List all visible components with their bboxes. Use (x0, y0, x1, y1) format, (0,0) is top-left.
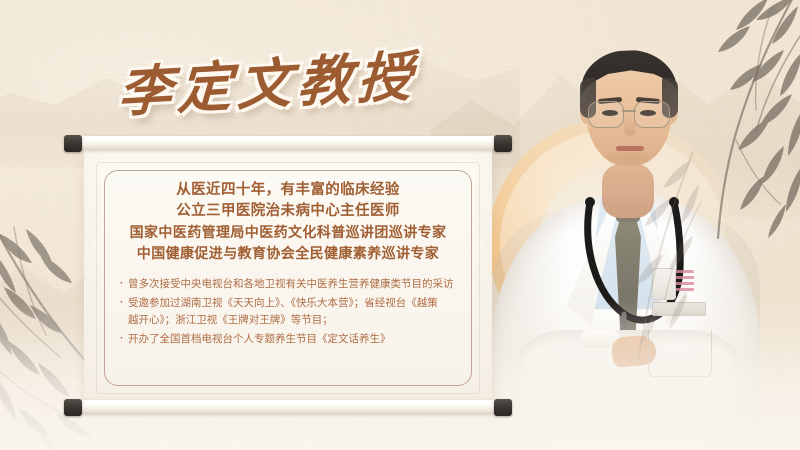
headline-line: 国家中医药管理局中医药文化科普巡讲团巡讲专家 (114, 222, 462, 243)
bullet-marker: · (120, 294, 124, 312)
lens-left (588, 101, 624, 128)
hanging-scroll: 从医近四十年，有丰富的临床经验 公立三甲医院治未病中心主任医师 国家中医药管理局… (76, 136, 500, 414)
glasses-bridge (622, 110, 636, 112)
bullet-text: 受邀参加过湖南卫视《天天向上》、《快乐大本营》；省经视台《越策 (128, 297, 438, 309)
scroll-rod-cap-icon (494, 135, 512, 152)
headline-line: 公立三甲医院治未病中心主任医师 (114, 201, 462, 222)
scroll-content: 从医近四十年，有丰富的临床经验 公立三甲医院治未病中心主任医师 国家中医药管理局… (114, 178, 462, 380)
headline-line: 从医近四十年，有丰富的临床经验 (114, 180, 462, 201)
profile-card: 李定文教授 从医近四十年，有丰富的临床经验 公立三甲医院治未病中心主任医师 国家… (0, 0, 800, 450)
headline-line: 中国健康促进与教育协会全民健康素养巡讲专家 (114, 243, 462, 264)
headline-block: 从医近四十年，有丰富的临床经验 公立三甲医院治未病中心主任医师 国家中医药管理局… (114, 180, 462, 264)
scroll-rod-cap-icon (64, 399, 82, 416)
lens-right (634, 101, 670, 128)
list-item: · 受邀参加过湖南卫视《天天向上》、《快乐大本营》；省经视台《越策 越开心》；浙… (120, 295, 462, 330)
bullet-marker: · (120, 330, 124, 348)
scroll-rod-icon (78, 136, 498, 150)
nose (624, 116, 636, 136)
scroll-rod-cap-icon (64, 135, 82, 152)
bullet-text: 曾多次接受中央电视台和各地卫视有关中医养生营养健康类节目的采访 (128, 278, 454, 290)
scroll-rod-icon (78, 400, 498, 414)
id-badge (652, 268, 676, 300)
bullet-text-continuation: 越开心》；浙江卫视《王牌对王牌》等节目； (128, 312, 462, 330)
list-item: · 曾多次接受中央电视台和各地卫视有关中医养生营养健康类节目的采访 (120, 276, 462, 294)
badge-text-lines (676, 270, 694, 292)
scroll-sheet: 从医近四十年，有丰富的临床经验 公立三甲医院治未病中心主任医师 国家中医药管理局… (84, 148, 492, 402)
bullet-marker: · (120, 275, 124, 293)
list-item: · 开办了全国首档电视台个人专题养生节目《定文话养生》 (120, 331, 462, 349)
bullet-text: 开办了全国首档电视台个人专题养生节目《定文话养生》 (128, 333, 391, 345)
bullet-list: · 曾多次接受中央电视台和各地卫视有关中医养生营养健康类节目的采访 · 受邀参加… (114, 276, 462, 348)
chin-shading (600, 150, 658, 166)
scroll-rod-cap-icon (494, 399, 512, 416)
